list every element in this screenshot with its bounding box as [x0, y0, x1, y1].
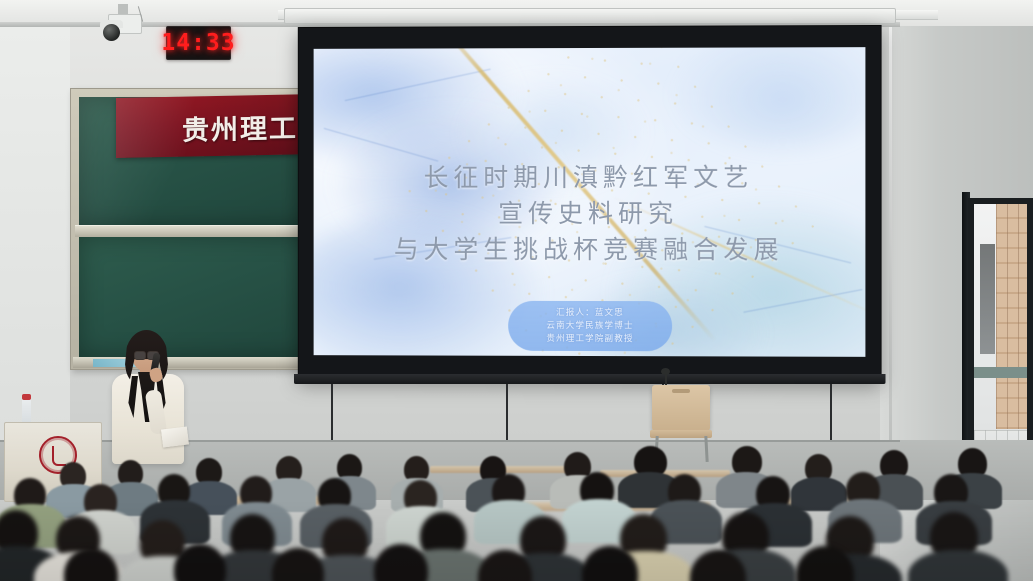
slide-surface: 长征时期川滇黔红军文艺 宣传史料研究 与大学生挑战杯竞赛融合发展 汇报人：蓝文思… [314, 47, 866, 357]
ink-vein [345, 69, 491, 102]
gold-accent-streak [612, 196, 865, 321]
gold-speckle-texture [392, 47, 815, 357]
window-rail [974, 367, 1033, 378]
screen-bottom-bar [294, 374, 886, 384]
lecture-hall-photo: 14:33 贵州理工 [0, 0, 1033, 581]
ink-wash [672, 47, 865, 148]
microphone-icon [661, 368, 670, 375]
ink-vein [374, 237, 512, 260]
screen-roller-housing [284, 8, 896, 24]
slide-title: 长征时期川滇黔红军文艺 宣传史料研究 与大学生挑战杯竞赛融合发展 [314, 160, 866, 269]
window-building-grid [996, 204, 1033, 429]
water-bottle-cap [22, 394, 31, 400]
presenter-line-1: 汇报人：蓝文思 [556, 306, 624, 319]
event-banner: 贵州理工 [116, 94, 318, 158]
ink-vein [704, 226, 851, 264]
ink-vein [743, 289, 862, 313]
window-exterior-shadow [980, 244, 995, 354]
chalkboard-panel-bottom [79, 237, 311, 357]
clock-time: 14:33 [161, 30, 235, 56]
audience-area [0, 418, 1033, 581]
led-clock: 14:33 [166, 26, 231, 60]
dome-camera-icon [103, 24, 120, 41]
presenter-line-3: 贵州理工学院副教授 [546, 332, 633, 345]
presenter-info-bubble: 汇报人：蓝文思 云南大学民族学博士 贵州理工学院副教授 [508, 301, 672, 351]
projection-screen: 长征时期川滇黔红军文艺 宣传史料研究 与大学生挑战杯竞赛融合发展 汇报人：蓝文思… [298, 25, 882, 381]
audience-shoulders [908, 550, 1008, 581]
ink-wash [462, 78, 642, 188]
chalkboard-middle-rail [75, 225, 315, 237]
ink-wash [314, 47, 522, 170]
ink-wash [314, 213, 542, 357]
presenter-line-2: 云南大学民族学博士 [546, 319, 633, 332]
left-wall-panel [0, 0, 70, 460]
ink-wash [612, 198, 865, 357]
audience-head [174, 544, 226, 581]
banner-text: 贵州理工 [182, 106, 298, 147]
slide-title-line-3: 与大学生挑战杯竞赛融合发展 [314, 232, 866, 269]
slide-title-line-2: 宣传史料研究 [314, 196, 866, 232]
wall-corner-edge [889, 0, 892, 470]
ink-wash [333, 108, 562, 258]
gold-accent-streak [433, 47, 718, 343]
ink-wash [562, 278, 763, 357]
stage-chair-handle-slot [672, 389, 690, 393]
slide-title-line-1: 长征时期川滇黔红军文艺 [314, 160, 866, 196]
ink-vein [324, 128, 439, 162]
